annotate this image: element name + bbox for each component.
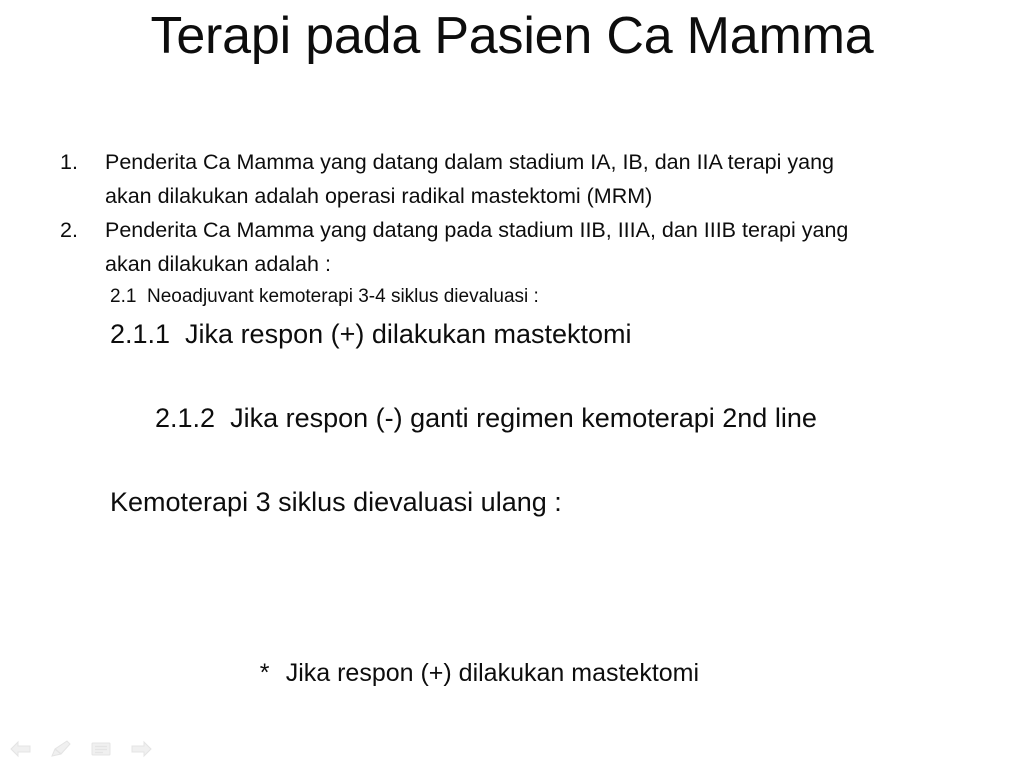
arrow-left-icon [10,740,32,758]
sub-item-2-1-1: 2.1.1 Jika respon (+) dilakukan mastekto… [110,313,1024,355]
star-item-2: *Jika respon masih (-) dilakukan radiote… [218,739,1024,768]
slideshow-toolbar [8,734,154,764]
previous-slide-button[interactable] [8,738,34,760]
star-item-1-text: Jika respon (+) dilakukan mastektomi [286,659,699,687]
slide-body: 1.Penderita Ca Mamma yang datang dalam s… [0,145,1024,768]
pen-icon [50,740,72,758]
star-item-1: *Jika respon (+) dilakukan mastektomi [218,607,1024,739]
slide-title: Terapi pada Pasien Ca Mamma [0,8,1024,65]
numbered-item-2: 2.Penderita Ca Mamma yang datang pada st… [0,213,1005,281]
item-2-line-1: Penderita Ca Mamma yang datang pada stad… [105,218,848,242]
item-1-marker: 1. [60,145,105,179]
next-slide-button[interactable] [128,738,154,760]
numbered-item-1: 1.Penderita Ca Mamma yang datang dalam s… [0,145,1005,213]
sub-item-2-1-2: 2.1.2 Jika respon (-) ganti regimen kemo… [110,355,1024,607]
menu-icon [90,740,112,758]
item-2-line-2: akan dilakukan adalah : [105,247,1005,281]
arrow-right-icon [130,740,152,758]
item-1-line-1: Penderita Ca Mamma yang datang dalam sta… [105,150,834,174]
item-1-line-2: akan dilakukan adalah operasi radikal ma… [105,179,1005,213]
star-item-1-marker: * [260,651,286,695]
item-2-marker: 2. [60,213,105,247]
sub-item-2-1: 2.1 Neoadjuvant kemoterapi 3-4 siklus di… [110,281,1024,313]
sub-item-2-1-2-line-1: 2.1.2 Jika respon (-) ganti regimen kemo… [155,403,817,433]
slide-menu-button[interactable] [88,738,114,760]
presentation-slide: Terapi pada Pasien Ca Mamma 1.Penderita … [0,0,1024,768]
sub-item-2-1-2-line-2: Kemoterapi 3 siklus dievaluasi ulang : [110,481,1024,523]
pen-tool-button[interactable] [48,738,74,760]
